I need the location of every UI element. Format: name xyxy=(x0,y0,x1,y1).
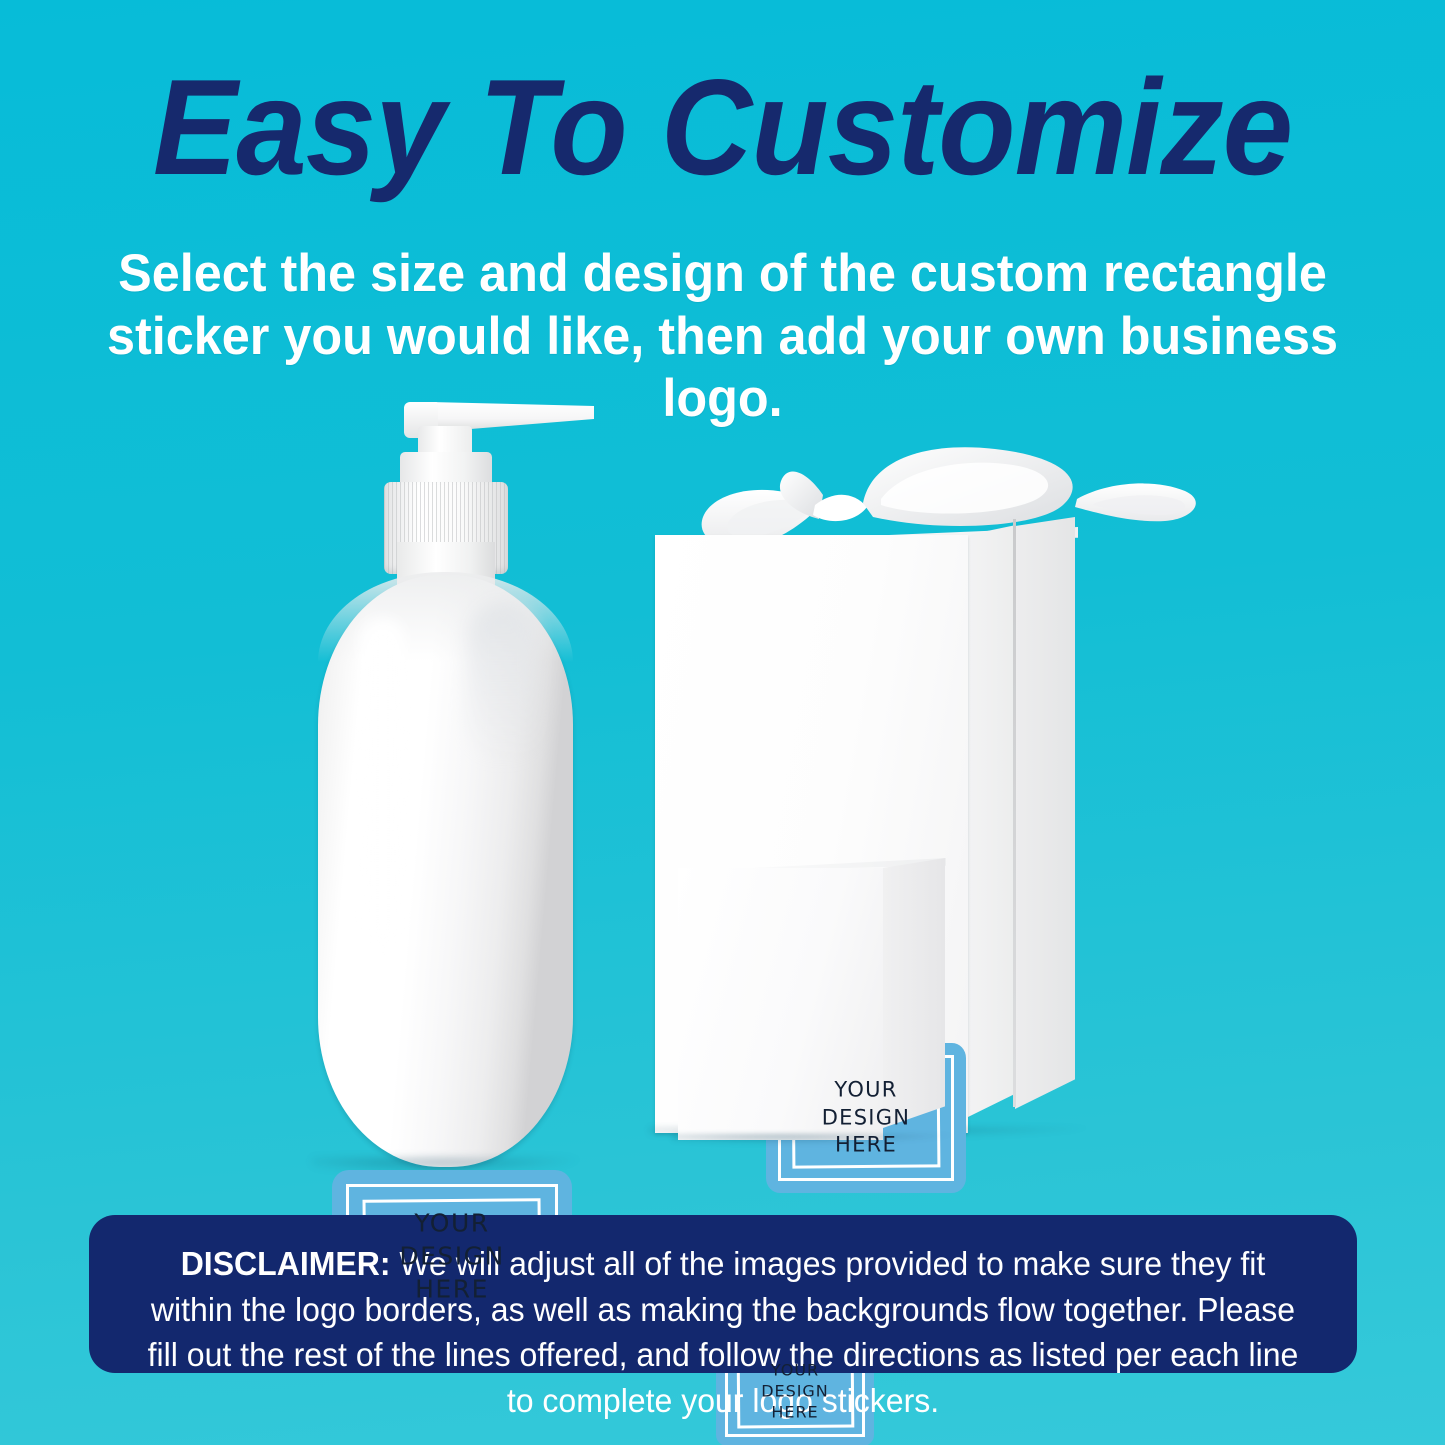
sticker-text: YOUR DESIGN HERE xyxy=(716,1359,874,1422)
gift-box-seam xyxy=(1013,519,1016,1107)
sticker-line-2: DESIGN xyxy=(332,1240,572,1273)
promotional-banner: Easy To Customize Select the size and de… xyxy=(0,0,1445,1445)
gift-box-side-back xyxy=(1015,517,1075,1109)
pump-bottle xyxy=(300,390,600,1180)
sticker-line-2: DESIGN xyxy=(766,1104,966,1132)
page-title: Easy To Customize xyxy=(51,58,1395,197)
product-mockup-scene: YOUR DESIGN HERE YOUR DESIGN HERE xyxy=(0,380,1445,1210)
disclaimer-box: DISCLAIMER: We will adjust all of the im… xyxy=(89,1215,1357,1373)
sticker-line-2: DESIGN xyxy=(716,1380,874,1401)
sticker-line-3: HERE xyxy=(716,1402,874,1423)
sticker-line-1: YOUR xyxy=(332,1207,572,1240)
sticker-line-3: HERE xyxy=(766,1132,966,1160)
bottle-highlight-right xyxy=(468,602,538,762)
sticker-text: YOUR DESIGN HERE xyxy=(766,1076,966,1159)
bottle-highlight-left xyxy=(360,618,406,948)
sticker-text: YOUR DESIGN HERE xyxy=(332,1207,572,1306)
sticker-line-3: HERE xyxy=(332,1273,572,1306)
sticker-line-1: YOUR xyxy=(766,1076,966,1104)
sticker-line-1: YOUR xyxy=(716,1359,874,1380)
gift-box-side-front xyxy=(968,525,1016,1117)
